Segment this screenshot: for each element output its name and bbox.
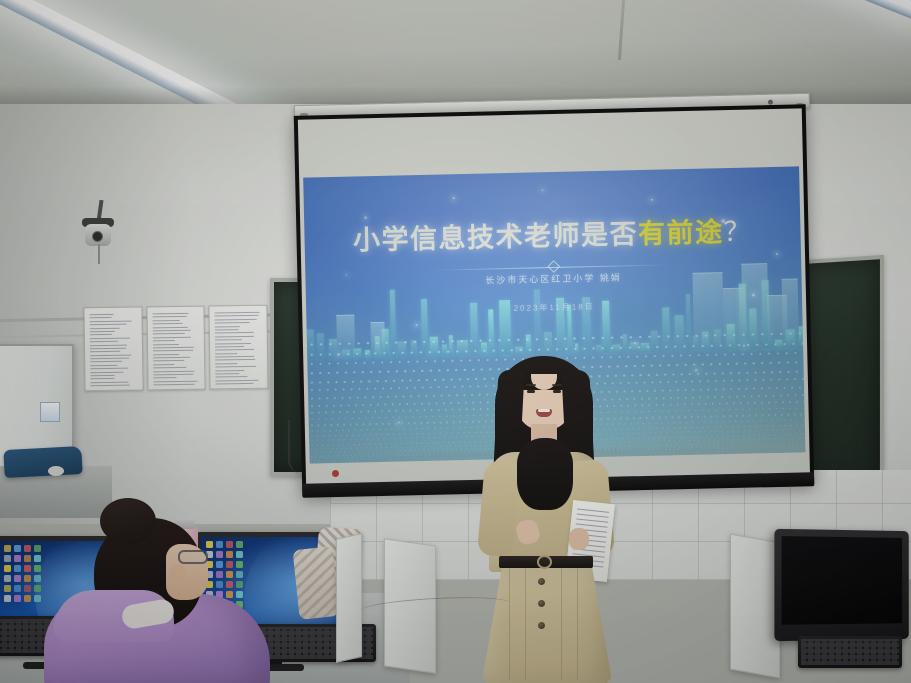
cable-connector — [332, 470, 339, 477]
presenter-brow-left — [526, 384, 536, 386]
desktop-icon[interactable] — [4, 595, 11, 602]
poster-text-line — [216, 366, 257, 368]
poster-text-line — [90, 381, 128, 383]
keyboard-right-keys — [801, 639, 899, 665]
sparkle-particle — [651, 198, 653, 200]
desktop-icon[interactable] — [4, 545, 11, 552]
poster-text-line — [90, 375, 114, 376]
poster-text-line — [152, 316, 187, 317]
poster-text-line — [90, 351, 120, 352]
poster-text-line — [153, 370, 194, 372]
poster-text-line — [215, 312, 259, 314]
sparkle-particle — [364, 216, 367, 219]
poster-1: 岗位职责制度 — [83, 306, 143, 391]
poster-text-line — [152, 320, 180, 321]
poster-text-line — [90, 331, 115, 332]
desk-partition-left — [336, 533, 362, 663]
poster-text-line — [215, 332, 254, 334]
blue-bag — [3, 446, 82, 478]
desktop-icon[interactable] — [24, 575, 31, 582]
poster-text-line — [216, 359, 256, 361]
poster-text-line — [153, 381, 197, 383]
poster-text-line — [90, 327, 120, 328]
poster-text-line — [153, 377, 176, 378]
student-ear — [170, 564, 186, 586]
desktop-icon[interactable] — [4, 585, 11, 592]
poster-text-line — [153, 364, 175, 365]
presenter-eye-right — [553, 390, 561, 393]
poster-text-line — [152, 326, 187, 327]
poster-text-line — [153, 350, 193, 352]
poster-text-line — [90, 341, 118, 342]
student-hair-bun — [100, 498, 156, 544]
poster-text-line — [152, 330, 190, 332]
poster-text-line — [90, 334, 112, 335]
desktop-icon[interactable] — [4, 575, 11, 582]
poster-text-line — [90, 371, 123, 372]
poster-text-line — [90, 358, 129, 360]
camera-pole — [98, 244, 100, 264]
poster-text-line — [215, 353, 236, 354]
sparkle-particle — [416, 324, 418, 326]
poster-text-line — [90, 368, 128, 370]
poster-2: 机房管理制度 — [146, 306, 206, 391]
poster-text-line — [215, 356, 253, 358]
poster-text-line — [215, 329, 239, 330]
poster-text-line — [216, 383, 253, 385]
desktop-icon[interactable] — [24, 545, 31, 552]
slide-title-main: 小学信息技术老师是否 — [353, 219, 639, 255]
slide-title-question-mark: ？ — [723, 216, 752, 247]
screen-cable — [288, 420, 302, 474]
seated-student — [38, 498, 270, 683]
desktop-icon[interactable] — [4, 555, 11, 562]
bag-strap — [48, 466, 64, 476]
slide-title-highlight: 有前途 — [638, 217, 724, 249]
poster-text-line — [216, 363, 237, 364]
desktop-icon[interactable] — [14, 565, 21, 572]
poster-1-body — [86, 311, 140, 389]
poster-text-line — [90, 365, 117, 366]
poster-text-line — [216, 376, 248, 377]
desktop-icon[interactable] — [24, 595, 31, 602]
poster-3: 学生上机守则 — [209, 305, 269, 390]
poster-text-line — [90, 324, 127, 326]
keyboard-right[interactable] — [798, 636, 902, 668]
poster-text-line — [153, 343, 179, 344]
poster-text-line — [90, 378, 114, 379]
poster-text-line — [216, 380, 258, 382]
sparkle-particle — [452, 197, 454, 199]
presenter-mouth — [536, 409, 552, 417]
poster-text-line — [90, 337, 130, 339]
camera-lens — [92, 231, 103, 242]
poster-text-line — [153, 357, 190, 359]
poster-text-line — [91, 385, 130, 387]
poster-text-line — [90, 348, 126, 350]
sparkle-particle — [776, 253, 778, 255]
security-camera-icon — [78, 200, 124, 248]
poster-text-line — [152, 333, 184, 334]
cloth-bag-2 — [292, 546, 339, 620]
poster-2-body — [149, 310, 203, 388]
poster-text-line — [153, 360, 184, 361]
cabinet-sticker — [40, 402, 60, 422]
poster-3-body — [212, 309, 266, 387]
monitor-right-screen[interactable] — [782, 536, 903, 625]
desktop-icon[interactable] — [14, 575, 21, 582]
housing-indicator — [768, 100, 773, 105]
poster-text-line — [215, 336, 253, 338]
presenter-brow-right — [552, 384, 562, 386]
poster-text-line — [153, 347, 194, 349]
poster-text-line — [90, 314, 114, 315]
desktop-icon-grid-left[interactable] — [4, 545, 41, 602]
presenter-eye-left — [527, 390, 535, 393]
poster-text-line — [153, 354, 179, 355]
poster-text-line — [153, 340, 176, 341]
poster-text-line — [216, 373, 239, 374]
desktop-icon[interactable] — [24, 555, 31, 562]
poster-text-line — [216, 370, 244, 371]
desktop-icon[interactable] — [14, 555, 21, 562]
poster-text-line — [215, 322, 250, 323]
poster-text-line — [90, 320, 132, 322]
poster-text-line — [153, 337, 192, 339]
poster-text-line — [90, 317, 112, 318]
poster-text-line — [215, 339, 242, 340]
desktop-icon[interactable] — [4, 565, 11, 572]
desktop-icon[interactable] — [24, 585, 31, 592]
poster-text-line — [153, 384, 194, 386]
poster-text-line — [215, 319, 257, 321]
poster-text-line — [215, 342, 251, 343]
poster-text-line — [152, 313, 188, 315]
desk-partition-right — [730, 534, 780, 679]
wall-posters: 岗位职责制度 机房管理制度 学生上机守则 — [83, 305, 268, 392]
poster-text-line — [90, 344, 127, 346]
poster-text-line — [153, 367, 186, 368]
classroom-photo: 岗位职责制度 机房管理制度 学生上机守则 — [0, 0, 911, 683]
poster-text-line — [215, 349, 254, 351]
desktop-icon[interactable] — [14, 585, 21, 592]
poster-text-line — [215, 346, 243, 347]
poster-text-line — [215, 315, 259, 317]
poster-text-line — [153, 374, 194, 376]
poster-text-line — [152, 323, 183, 324]
poster-text-line — [90, 361, 122, 362]
poster-text-line — [90, 354, 131, 356]
desktop-icon[interactable] — [14, 595, 21, 602]
desktop-icon[interactable] — [14, 545, 21, 552]
poster-text-line — [215, 326, 240, 327]
desktop-icon[interactable] — [24, 565, 31, 572]
student-glasses — [178, 550, 208, 564]
monitor-right[interactable] — [774, 529, 908, 641]
